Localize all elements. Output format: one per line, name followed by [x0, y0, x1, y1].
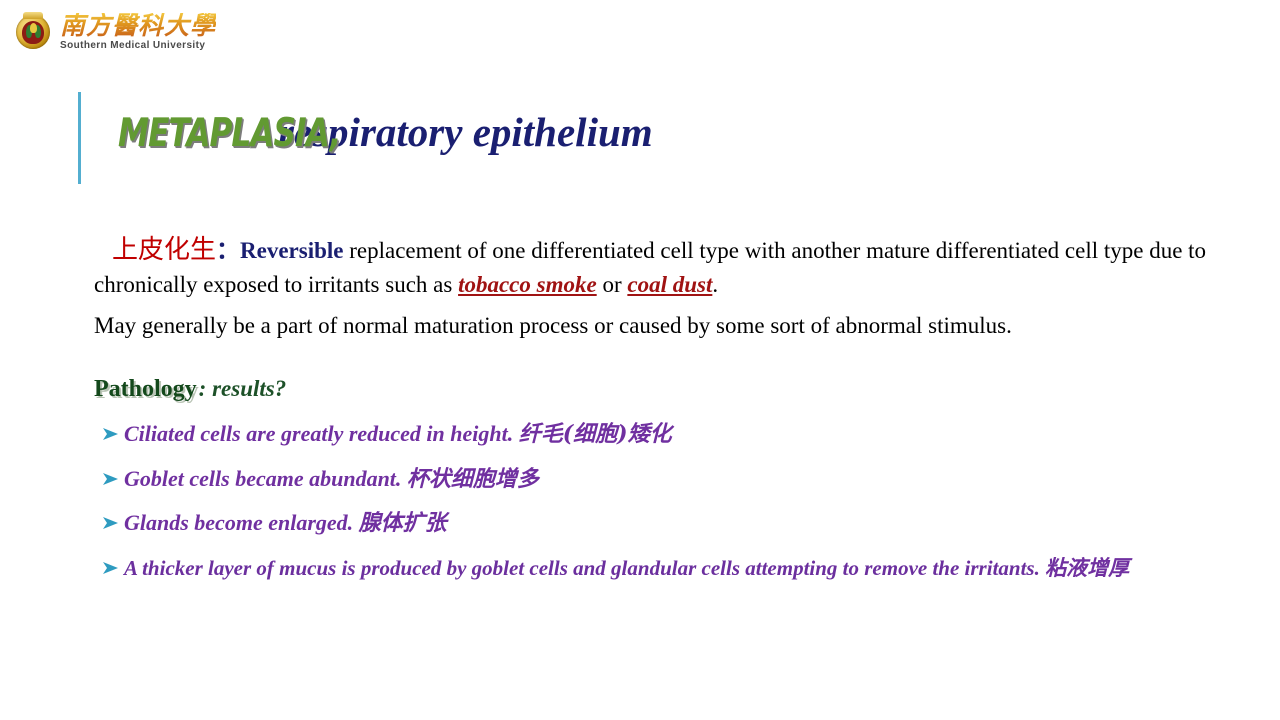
list-item-en: Goblet cells became abundant.: [124, 466, 407, 491]
definition-colon: ：: [216, 238, 240, 264]
university-logo: 南方醫科大學 Southern Medical University: [14, 9, 214, 55]
list-item: A thicker layer of mucus is produced by …: [102, 554, 1232, 582]
pathology-results-list: Ciliated cells are greatly reduced in he…: [102, 420, 1232, 582]
list-item: Ciliated cells are greatly reduced in he…: [102, 420, 1232, 449]
arrow-bullet-icon: [102, 554, 124, 582]
title-green-word: METAPLASIA,: [118, 111, 340, 156]
list-item-en: Glands become enlarged.: [124, 510, 359, 535]
list-item-en: A thicker layer of mucus is produced by …: [124, 556, 1045, 580]
definition-keyword: Reversible: [240, 238, 343, 263]
logo-english-name: Southern Medical University: [60, 40, 216, 51]
arrow-bullet-icon: [102, 465, 124, 493]
definition-chinese-term: 上皮化生: [112, 235, 216, 265]
list-item-cn: 纤毛(细胞)矮化: [519, 421, 672, 447]
definition-paragraph: 上皮化生：Reversible replacement of one diffe…: [94, 232, 1224, 302]
pathology-question: : results?: [199, 376, 287, 401]
list-item-en: Ciliated cells are greatly reduced in he…: [124, 421, 519, 446]
list-item-text: A thicker layer of mucus is produced by …: [124, 554, 1214, 582]
university-crest-icon: [14, 11, 54, 53]
list-item-cn: 腺体扩张: [359, 510, 447, 536]
definition-conjunction: or: [597, 272, 628, 297]
logo-text-block: 南方醫科大學 Southern Medical University: [60, 13, 216, 51]
page-title: METAPLASIA, respiratory epithelium: [118, 108, 1218, 178]
list-item-cn: 杯状细胞增多: [407, 466, 539, 492]
title-accent-rule: [78, 92, 81, 184]
logo-chinese-name: 南方醫科大學: [60, 13, 216, 38]
list-item-text: Goblet cells became abundant. 杯状细胞增多: [124, 465, 539, 494]
definition-block: 上皮化生：Reversible replacement of one diffe…: [94, 232, 1224, 343]
arrow-bullet-icon: [102, 420, 124, 448]
list-item-cn: 粘液增厚: [1045, 555, 1129, 580]
irritant-coal-dust: coal dust: [627, 272, 712, 297]
list-item: Glands become enlarged. 腺体扩张: [102, 509, 1232, 538]
list-item: Goblet cells became abundant. 杯状细胞增多: [102, 465, 1232, 494]
definition-period: .: [712, 272, 718, 297]
pathology-label: Pathology: [94, 376, 197, 402]
arrow-bullet-icon: [102, 509, 124, 537]
list-item-text: Glands become enlarged. 腺体扩张: [124, 509, 447, 538]
slide-canvas: 南方醫科大學 Southern Medical University METAP…: [0, 0, 1280, 720]
irritant-tobacco-smoke: tobacco smoke: [458, 272, 597, 297]
pathology-heading: Pathology: results?: [94, 376, 286, 403]
list-item-text: Ciliated cells are greatly reduced in he…: [124, 420, 672, 449]
maturation-paragraph: May generally be a part of normal matura…: [94, 310, 1224, 343]
